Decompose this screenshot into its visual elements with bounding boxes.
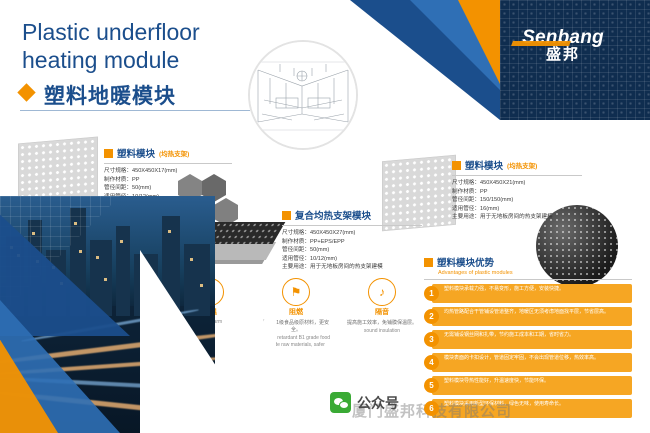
title-divider [20, 110, 250, 111]
spec-block-2: 塑料模块 (均热支架) 尺寸规格：450X450X21(mm) 制作材质：PP … [452, 158, 582, 222]
feature-desc-cn: 提高施工效率，免铺膜保温层。 [344, 320, 420, 327]
page-title-cn: 塑料地暖模块 [44, 80, 176, 110]
advantage-text: 均热管路配合干管铺设管道整齐，地暖区无须考虑地面找平层，节省层高。 [444, 309, 628, 316]
diamond-bullet-icon [17, 83, 35, 101]
shield-icon: ⚑ [282, 278, 310, 306]
advantages-header: 塑料模块优势 [424, 255, 632, 269]
spec-header: 塑料模块 (均热支架) [452, 158, 582, 172]
feature-label-cn: 隔音 [344, 308, 420, 318]
logo-text-cn: 盛邦 [504, 47, 622, 63]
poster-page: Senbang 盛邦 Plastic underfloor heating mo… [0, 0, 650, 433]
feature-label-en: sound insulation [344, 328, 420, 335]
advantages-divider [424, 279, 632, 280]
advantage-row: 4 模块表面的卡扣设计，管道固定牢固，不会出现管道位移，热效率高。 [424, 353, 632, 373]
advantage-text: 塑料模块承载力强，不易变形，施工方便，安装快捷。 [444, 286, 628, 293]
spec-row: 尺寸规格：450X450X17(mm) [104, 167, 232, 176]
advantages-title: 塑料模块优势 [437, 255, 494, 269]
spec-row: 管径间距：150/150(mm) [452, 196, 582, 205]
advantage-row: 3 无需铺设钢丝网和扎带，节约施工成本和工期，省时省力。 [424, 330, 632, 350]
advantage-number: 6 [424, 401, 439, 416]
spec-row: 适用管径：10/12(mm) [282, 255, 422, 264]
logo-orange-bar [511, 41, 571, 46]
feature-item-sound-insulation: ♪ 隔音 提高施工效率，免铺膜保温层。 sound insulation [344, 278, 420, 349]
advantage-text: 模块表面的卡扣设计，管道固定牢固，不会出现管道位移，热效率高。 [444, 355, 628, 362]
advantage-number: 5 [424, 378, 439, 393]
spec-row: 尺寸规格：450X450X21(mm) [452, 179, 582, 188]
spec-title: 塑料模块 [465, 158, 503, 172]
spec-row: 制作材质：PP+EPS/EPP [282, 238, 422, 247]
spec-row: 尺寸规格：450X450X27(mm) [282, 229, 422, 238]
spec-title: 塑料模块 [117, 146, 155, 160]
advantages-subtitle: Advantages of plastic modules [438, 270, 632, 276]
spec-title: 复合均热支架模块 [295, 208, 371, 222]
spec-row: 管径间距：50(mm) [282, 246, 422, 255]
square-bullet-icon [424, 258, 433, 267]
spec-row: 主要用途：用于无地板房间的热支架建模 [282, 263, 422, 272]
wechat-label: 公众号 [357, 393, 399, 413]
advantage-row: 2 均热管路配合干管铺设管道整齐，地暖区无须考虑地面找平层，节省层高。 [424, 307, 632, 327]
advantage-text: 无需铺设钢丝网和扎带，节约施工成本和工期，省时省力。 [444, 332, 628, 339]
spec-divider [282, 225, 422, 226]
advantage-number: 4 [424, 355, 439, 370]
spec-row: 制作材质：PP [452, 188, 582, 197]
room-illustration [248, 40, 358, 150]
sound-icon: ♪ [368, 278, 396, 306]
square-bullet-icon [104, 149, 113, 158]
spec-row: 主要用途：用于无地板房间的热支架建模 [452, 213, 582, 222]
advantage-number: 3 [424, 332, 439, 347]
spec-subtitle: (均热支架) [507, 160, 537, 170]
advantages-block: 塑料模块优势 Advantages of plastic modules 1 塑… [424, 255, 632, 422]
advantage-number: 1 [424, 286, 439, 301]
photo-window-light [168, 230, 171, 233]
company-logo: Senbang 盛邦 [504, 28, 622, 62]
advantage-text: 塑料模块导热性能好，升温速度快，节能环保。 [444, 378, 628, 385]
page-title-en-line2: heating module [22, 46, 272, 74]
page-title-en: Plastic underfloor heating module [22, 18, 272, 74]
spec-row: 适用管径：16(mm) [452, 205, 582, 214]
spec-divider [104, 163, 232, 164]
spec-divider [452, 175, 582, 176]
wechat-bar: 公众号 [330, 392, 399, 413]
advantage-row: 5 塑料模块导热性能好，升温速度快，节能环保。 [424, 376, 632, 396]
square-bullet-icon [452, 161, 461, 170]
page-title-en-line1: Plastic underfloor [22, 18, 272, 46]
spec-row: 管径间距：50(mm) [104, 184, 232, 193]
spec-row: 制作材质：PP [104, 176, 232, 185]
advantage-row: 1 塑料模块承载力强，不易变形，施工方便，安装快捷。 [424, 284, 632, 304]
square-bullet-icon [282, 211, 291, 220]
spec-header: 塑料模块 (均热支架) [104, 146, 232, 160]
spec-subtitle: (均热支架) [159, 148, 189, 158]
spec-header: 复合均热支架模块 [282, 208, 422, 222]
wechat-icon [330, 392, 351, 413]
spec-block-3: 复合均热支架模块 尺寸规格：450X450X27(mm) 制作材质：PP+EPS… [282, 208, 422, 272]
advantage-number: 2 [424, 309, 439, 324]
overlay-orange-triangle [0, 330, 58, 433]
